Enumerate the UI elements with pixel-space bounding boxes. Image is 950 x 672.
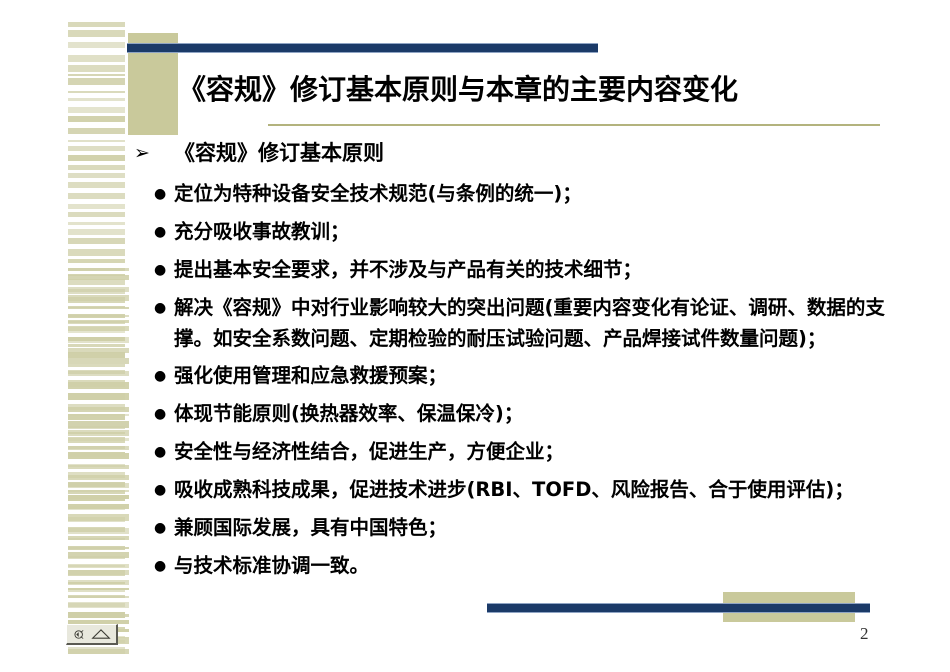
disc-bullet-icon: ● (128, 292, 174, 324)
level2-bullet-list: ●定位为特种设备安全技术规范(与条例的统一)；●充分吸收事故教训；●提出基本安全… (128, 178, 928, 582)
title-underline-rule (268, 124, 880, 126)
sidebar-stripe (68, 514, 129, 521)
level2-bullet-item: ●体现节能原则(换热器效率、保温保冷)； (128, 398, 928, 430)
disc-bullet-icon: ● (128, 178, 174, 210)
arrow-bullet-icon: ➢ (128, 138, 174, 168)
sidebar-stripe (68, 421, 129, 428)
sidebar-stripe (68, 229, 125, 235)
sidebar-stripe (68, 564, 129, 568)
sidebar-stripe (68, 91, 125, 93)
header-navy-bar (127, 43, 598, 53)
sidebar-stripe (68, 259, 125, 263)
speaker-icon (73, 628, 86, 641)
sidebar-stripe (68, 107, 125, 113)
sidebar-stripe (68, 295, 129, 301)
sidebar-stripe (68, 155, 125, 161)
disc-bullet-icon: ● (128, 254, 174, 286)
sidebar-stripe (68, 222, 125, 225)
sidebar-stripe (68, 140, 125, 142)
level2-bullet-label: 体现节能原则(换热器效率、保温保冷)； (174, 398, 523, 429)
sidebar-stripe (68, 337, 129, 343)
sidebar-stripe (68, 483, 129, 488)
sidebar-stripe (68, 307, 129, 309)
sidebar-stripe (68, 42, 125, 48)
level2-bullet-item: ●强化使用管理和应急救援预案； (128, 360, 928, 392)
disc-bullet-icon: ● (128, 436, 174, 468)
disc-bullet-icon: ● (128, 550, 174, 582)
level2-bullet-item: ●充分吸收事故教训； (128, 216, 928, 248)
level2-bullet-item: ●吸收成熟科技成果，促进技术进步(RBI、TOFD、风险报告、合于使用评估)； (128, 474, 928, 506)
sidebar-stripe (68, 407, 129, 412)
sidebar-stripe (68, 446, 129, 450)
level2-bullet-item: ●兼顾国际发展，具有中国特色； (128, 512, 928, 544)
sidebar-stripe (68, 649, 129, 654)
sidebar-stripe (68, 536, 129, 540)
sidebar-stripe (68, 212, 125, 217)
level2-bullet-label: 兼顾国际发展，具有中国特色； (174, 512, 447, 543)
level2-bullet-item: ●安全性与经济性结合，促进生产，方便企业； (128, 436, 928, 468)
disc-bullet-icon: ● (128, 398, 174, 430)
sidebar-stripe (68, 438, 129, 441)
sidebar-stripe (68, 55, 125, 62)
sidebar-stripe (68, 570, 129, 575)
sidebar-stripe (68, 116, 125, 122)
sidebar-stripe (68, 320, 129, 323)
sidebar-stripe (68, 588, 129, 590)
level2-bullet-label: 强化使用管理和应急救援预案； (174, 360, 447, 391)
sidebar-stripe (68, 268, 129, 271)
sidebar-stripe (68, 465, 129, 469)
level2-bullet-label: 与技术标准协调一致。 (174, 550, 369, 581)
sidebar-stripe (68, 287, 129, 292)
sidebar-stripe (68, 371, 129, 376)
level2-bullet-item: ●提出基本安全要求，并不涉及与产品有关的技术细节； (128, 254, 928, 286)
sound-action-icon[interactable] (66, 624, 118, 645)
sidebar-stripe (68, 204, 125, 209)
sidebar-stripe (68, 580, 129, 585)
sidebar-stripe (68, 238, 125, 244)
sidebar-stripe (68, 65, 125, 72)
sidebar-stripe (68, 315, 129, 317)
level2-bullet-item: ●定位为特种设备安全技术规范(与条例的统一)； (128, 178, 928, 210)
footer-navy-bar (487, 603, 870, 613)
sidebar-stripe (68, 275, 129, 280)
level2-bullet-label: 充分吸收事故教训； (174, 216, 350, 247)
sidebar-stripe (68, 165, 125, 170)
sidebar-stripe (68, 495, 129, 499)
disc-bullet-icon: ● (128, 512, 174, 544)
level2-bullet-item: ●解决《容规》中对行业影响较大的突出问题(重要内容变化有论证、调研、数据的支撑。… (128, 292, 928, 354)
triangle-shape-icon (91, 628, 111, 640)
sidebar-stripe (68, 74, 125, 76)
slide-canvas: 《容规》修订基本原则与本章的主要内容变化 ➢ 《容规》修订基本原则 ●定位为特种… (0, 0, 950, 672)
sidebar-stripe (68, 358, 129, 364)
page-title: 《容规》修订基本原则与本章的主要内容变化 (178, 68, 938, 108)
sidebar-stripe (68, 173, 125, 178)
sidebar-stripe (68, 602, 129, 608)
sidebar-stripe (68, 528, 129, 534)
sidebar-stripe (68, 30, 125, 37)
sidebar-stripe (68, 382, 129, 389)
level2-bullet-label: 安全性与经济性结合，促进生产，方便企业； (174, 436, 564, 467)
page-number: 2 (860, 624, 869, 644)
sidebar-stripe (68, 78, 125, 85)
level2-bullet-label: 解决《容规》中对行业影响较大的突出问题(重要内容变化有论证、调研、数据的支撑。如… (174, 292, 914, 354)
sidebar-stripe (68, 453, 129, 459)
sidebar-stripe (68, 22, 125, 27)
sidebar-stripe (68, 393, 129, 400)
disc-bullet-icon: ● (128, 216, 174, 248)
sidebar-stripe (68, 490, 129, 492)
disc-bullet-icon: ● (128, 474, 174, 506)
sidebar-stripe (68, 596, 129, 598)
sidebar-stripe (68, 98, 125, 101)
sidebar-stripe (68, 547, 129, 549)
level1-bullet-item: ➢ 《容规》修订基本原则 (128, 138, 928, 168)
disc-bullet-icon: ● (128, 360, 174, 392)
level2-bullet-item: ●与技术标准协调一致。 (128, 550, 928, 582)
level1-bullet-label: 《容规》修订基本原则 (174, 138, 384, 168)
sidebar-stripe (68, 614, 129, 617)
sidebar-stripe (68, 348, 129, 353)
sidebar-stripe (68, 430, 129, 436)
sidebar-stripe (68, 475, 129, 480)
sidebar-stripe (68, 182, 125, 188)
sidebar-stripe-pattern-lower (68, 268, 129, 656)
level2-bullet-label: 吸收成熟科技成果，促进技术进步(RBI、TOFD、风险报告、合于使用评估)； (174, 474, 854, 505)
level2-bullet-label: 定位为特种设备安全技术规范(与条例的统一)； (174, 178, 582, 209)
sidebar-stripe (68, 146, 125, 151)
slide-body: ➢ 《容规》修订基本原则 ●定位为特种设备安全技术规范(与条例的统一)；●充分吸… (128, 138, 928, 588)
sidebar-stripe (68, 249, 125, 256)
sidebar-stripe (68, 128, 125, 134)
level2-bullet-label: 提出基本安全要求，并不涉及与产品有关的技术细节； (174, 254, 642, 285)
sidebar-stripe (68, 504, 129, 509)
sidebar-stripe (68, 552, 129, 558)
sidebar-stripe (68, 193, 125, 199)
sidebar-stripe (68, 326, 129, 331)
sidebar-stripe (68, 414, 129, 416)
